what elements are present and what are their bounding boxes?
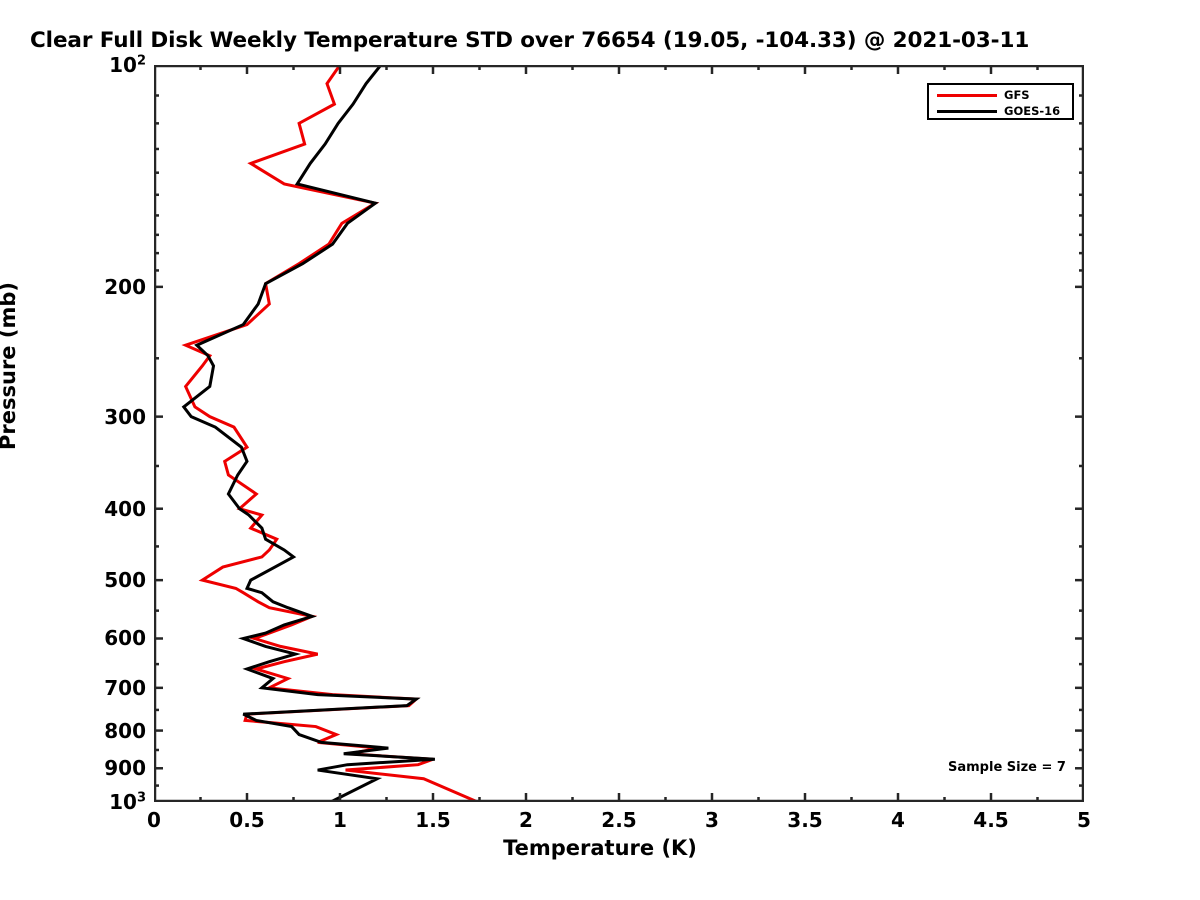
x-tick-label: 0.5 bbox=[229, 808, 264, 832]
x-tick-label: 4.5 bbox=[973, 808, 1008, 832]
x-axis-label: Temperature (K) bbox=[503, 836, 697, 860]
plot-canvas bbox=[154, 65, 1084, 802]
x-tick-label: 1.5 bbox=[415, 808, 450, 832]
x-tick-label: 2.5 bbox=[601, 808, 636, 832]
y-tick-label: 500 bbox=[104, 568, 146, 592]
y-tick-label: 900 bbox=[104, 756, 146, 780]
legend-item-gfs: GFS bbox=[929, 87, 1072, 103]
legend-label-goes16: GOES-16 bbox=[1004, 104, 1060, 118]
x-tick-label: 2 bbox=[519, 808, 533, 832]
x-tick-label: 0 bbox=[147, 808, 161, 832]
x-tick-label: 5 bbox=[1077, 808, 1091, 832]
y-tick-label: 102 bbox=[109, 53, 146, 77]
y-tick-label: 400 bbox=[104, 497, 146, 521]
sample-size-annotation: Sample Size = 7 bbox=[948, 760, 1066, 775]
x-tick-label: 4 bbox=[891, 808, 905, 832]
y-tick-label: 700 bbox=[104, 676, 146, 700]
chart-title: Clear Full Disk Weekly Temperature STD o… bbox=[30, 28, 1029, 53]
plot-area bbox=[154, 65, 1084, 802]
y-tick-label: 800 bbox=[104, 719, 146, 743]
y-tick-label: 200 bbox=[104, 275, 146, 299]
legend-swatch-goes16 bbox=[937, 110, 997, 113]
y-tick-label: 300 bbox=[104, 405, 146, 429]
x-tick-label: 1 bbox=[333, 808, 347, 832]
y-tick-label: 103 bbox=[109, 790, 146, 814]
chart-figure: Clear Full Disk Weekly Temperature STD o… bbox=[0, 0, 1200, 900]
legend-label-gfs: GFS bbox=[1004, 88, 1030, 102]
x-tick-label: 3.5 bbox=[787, 808, 822, 832]
series-layer bbox=[184, 65, 478, 802]
y-tick-label: 600 bbox=[104, 626, 146, 650]
legend-swatch-gfs bbox=[937, 94, 997, 97]
legend-item-goes16: GOES-16 bbox=[929, 103, 1072, 119]
y-axis-label: Pressure (mb) bbox=[0, 282, 20, 450]
x-tick-label: 3 bbox=[705, 808, 719, 832]
legend: GFS GOES-16 bbox=[927, 83, 1074, 120]
series-line-gfs bbox=[186, 65, 478, 802]
